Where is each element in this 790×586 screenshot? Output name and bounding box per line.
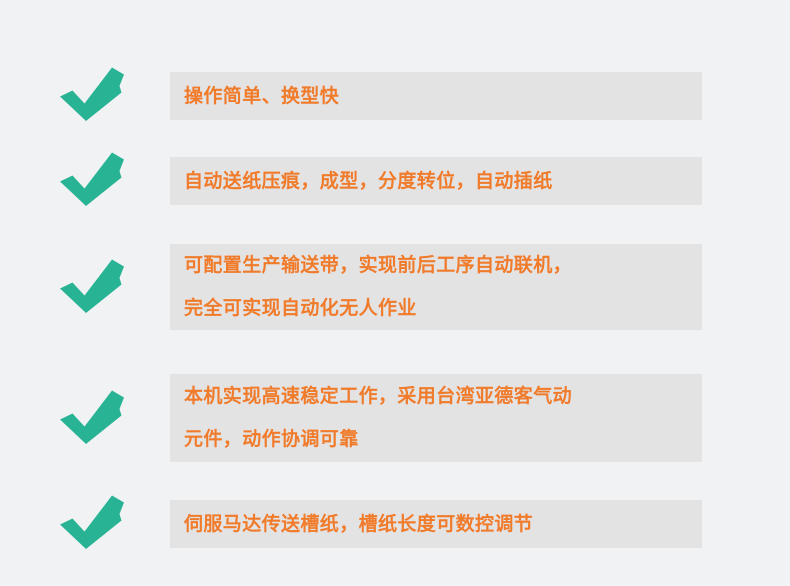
feature-item-1: 操作简单、换型快 xyxy=(0,72,790,120)
feature-text-line: 完全可实现自动化无人作业 xyxy=(184,287,688,330)
feature-item-5: 伺服马达传送槽纸，槽纸长度可数控调节 xyxy=(0,500,790,548)
feature-text-4: 本机实现高速稳定工作，采用台湾亚德客气动 元件，动作协调可靠 xyxy=(170,374,702,462)
check-cell-4 xyxy=(0,386,170,450)
feature-text-line: 自动送纸压痕，成型，分度转位，自动插纸 xyxy=(184,160,688,203)
check-mark-icon xyxy=(55,388,129,450)
feature-text-5: 伺服马达传送槽纸，槽纸长度可数控调节 xyxy=(170,500,702,548)
feature-text-line: 伺服马达传送槽纸，槽纸长度可数控调节 xyxy=(184,503,688,546)
check-mark-icon xyxy=(55,65,129,127)
feature-text-3: 可配置生产输送带，实现前后工序自动联机， 完全可实现自动化无人作业 xyxy=(170,244,702,330)
feature-item-2: 自动送纸压痕，成型，分度转位，自动插纸 xyxy=(0,157,790,205)
feature-text-line: 元件，动作协调可靠 xyxy=(184,418,688,461)
check-mark-icon xyxy=(55,257,129,319)
check-mark-icon xyxy=(55,150,129,212)
check-cell-2 xyxy=(0,150,170,212)
check-mark-icon xyxy=(55,493,129,555)
feature-item-3: 可配置生产输送带，实现前后工序自动联机， 完全可实现自动化无人作业 xyxy=(0,244,790,330)
feature-list: 操作简单、换型快 自动送纸压痕，成型，分度转位，自动插纸 可配置生产输送带，实现… xyxy=(0,0,790,586)
feature-text-line: 本机实现高速稳定工作，采用台湾亚德客气动 xyxy=(184,375,688,418)
check-cell-3 xyxy=(0,255,170,319)
feature-text-line: 可配置生产输送带，实现前后工序自动联机， xyxy=(184,244,688,287)
feature-text-2: 自动送纸压痕，成型，分度转位，自动插纸 xyxy=(170,157,702,205)
feature-text-1: 操作简单、换型快 xyxy=(170,72,702,120)
check-cell-1 xyxy=(0,65,170,127)
feature-item-4: 本机实现高速稳定工作，采用台湾亚德客气动 元件，动作协调可靠 xyxy=(0,374,790,462)
feature-text-line: 操作简单、换型快 xyxy=(184,75,688,118)
check-cell-5 xyxy=(0,493,170,555)
